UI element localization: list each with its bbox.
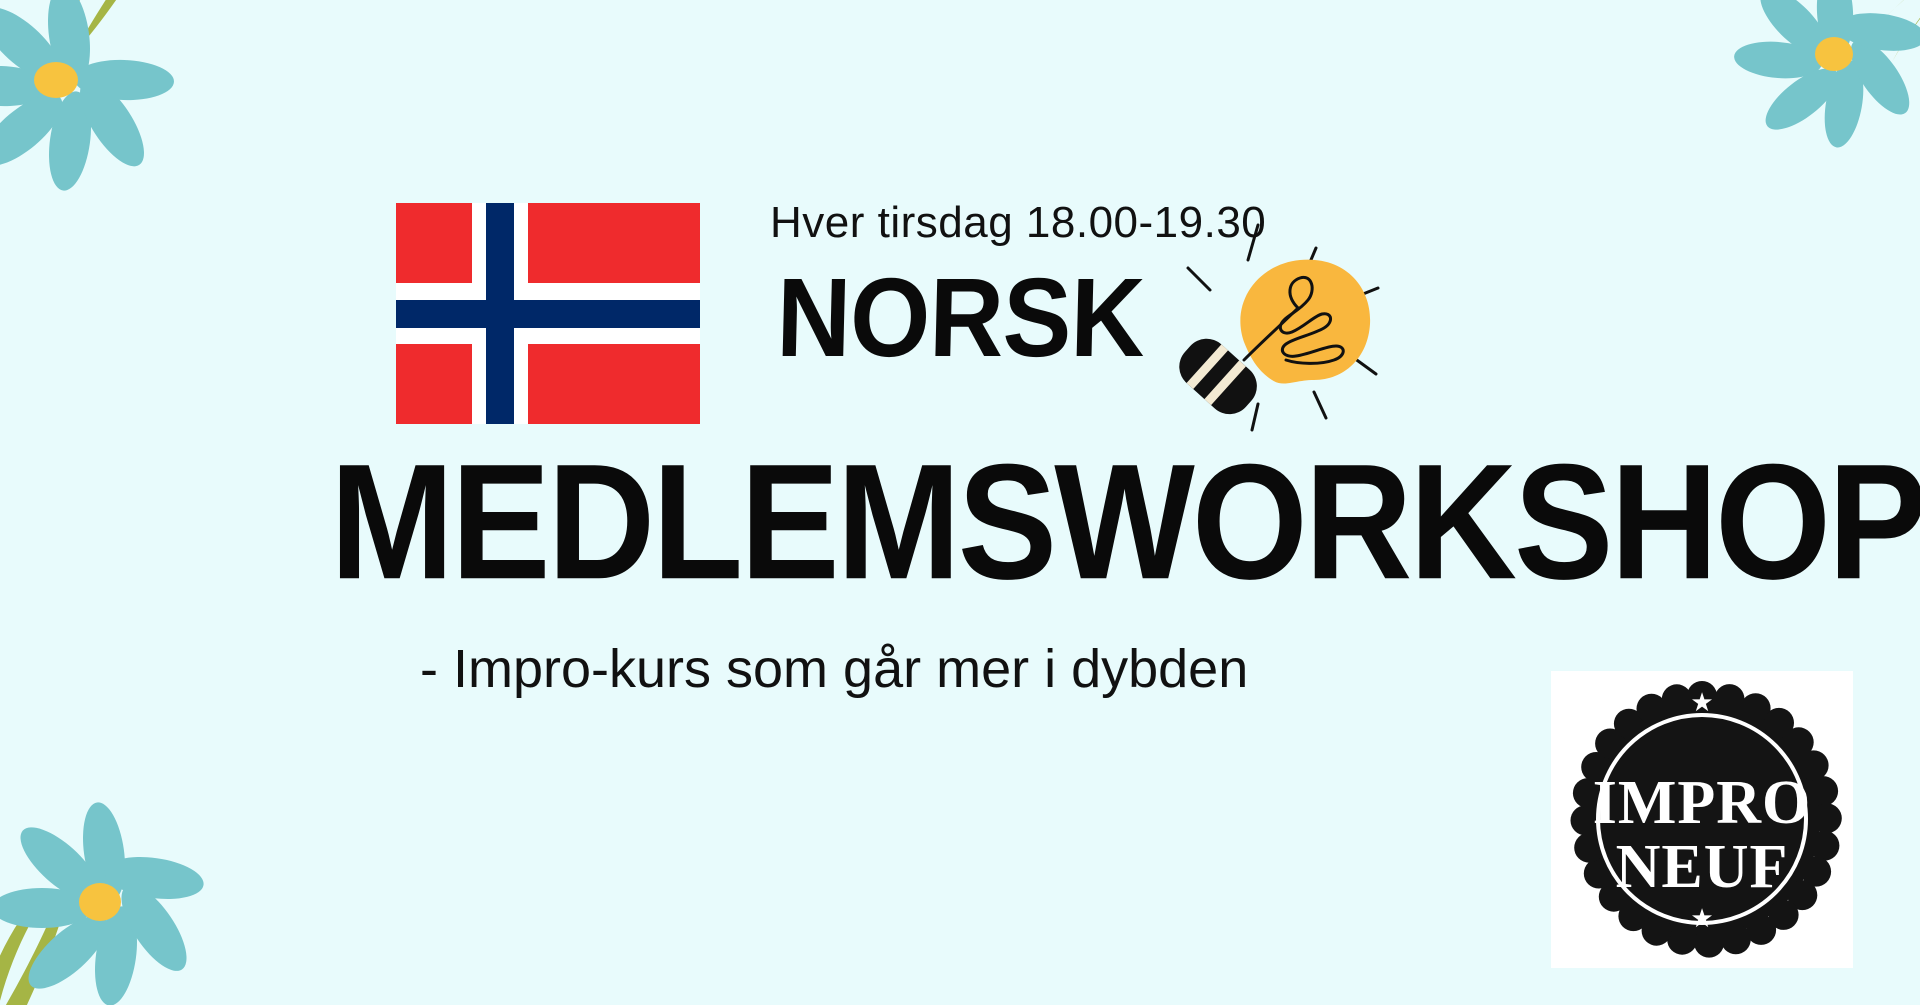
kicker-norsk: NORSK [775, 262, 1145, 374]
flag-red-quadrant [528, 344, 700, 424]
flag-blue-cross-horizontal [396, 300, 700, 328]
badge-star-bottom: ★ [1690, 904, 1713, 933]
flower-bottom-left-icon [0, 760, 236, 1005]
norwegian-flag-icon [396, 203, 700, 424]
page-title: MEDLEMSWORKSHOP [330, 440, 1565, 604]
flag-red-quadrant [396, 344, 472, 424]
impro-neuf-logo: ★ IMPRO NEUF ★ [1551, 671, 1853, 968]
badge-line-1: IMPRO [1593, 769, 1812, 837]
flower-top-right-icon [1720, 0, 1920, 170]
poster-canvas: Hver tirsdag 18.00-19.30 NORSK MEDLEMSWO… [0, 0, 1920, 1005]
badge-star-top: ★ [1690, 688, 1713, 717]
flower-top-left-icon [0, 0, 194, 208]
flag-red-quadrant [396, 203, 472, 283]
flag-blue-cross-vertical [486, 203, 514, 424]
subtitle-text: - Impro-kurs som går mer i dybden [420, 638, 1248, 700]
flag-red-quadrant [528, 203, 700, 283]
schedule-text: Hver tirsdag 18.00-19.30 [770, 198, 1266, 248]
badge-line-2: NEUF [1616, 833, 1789, 901]
